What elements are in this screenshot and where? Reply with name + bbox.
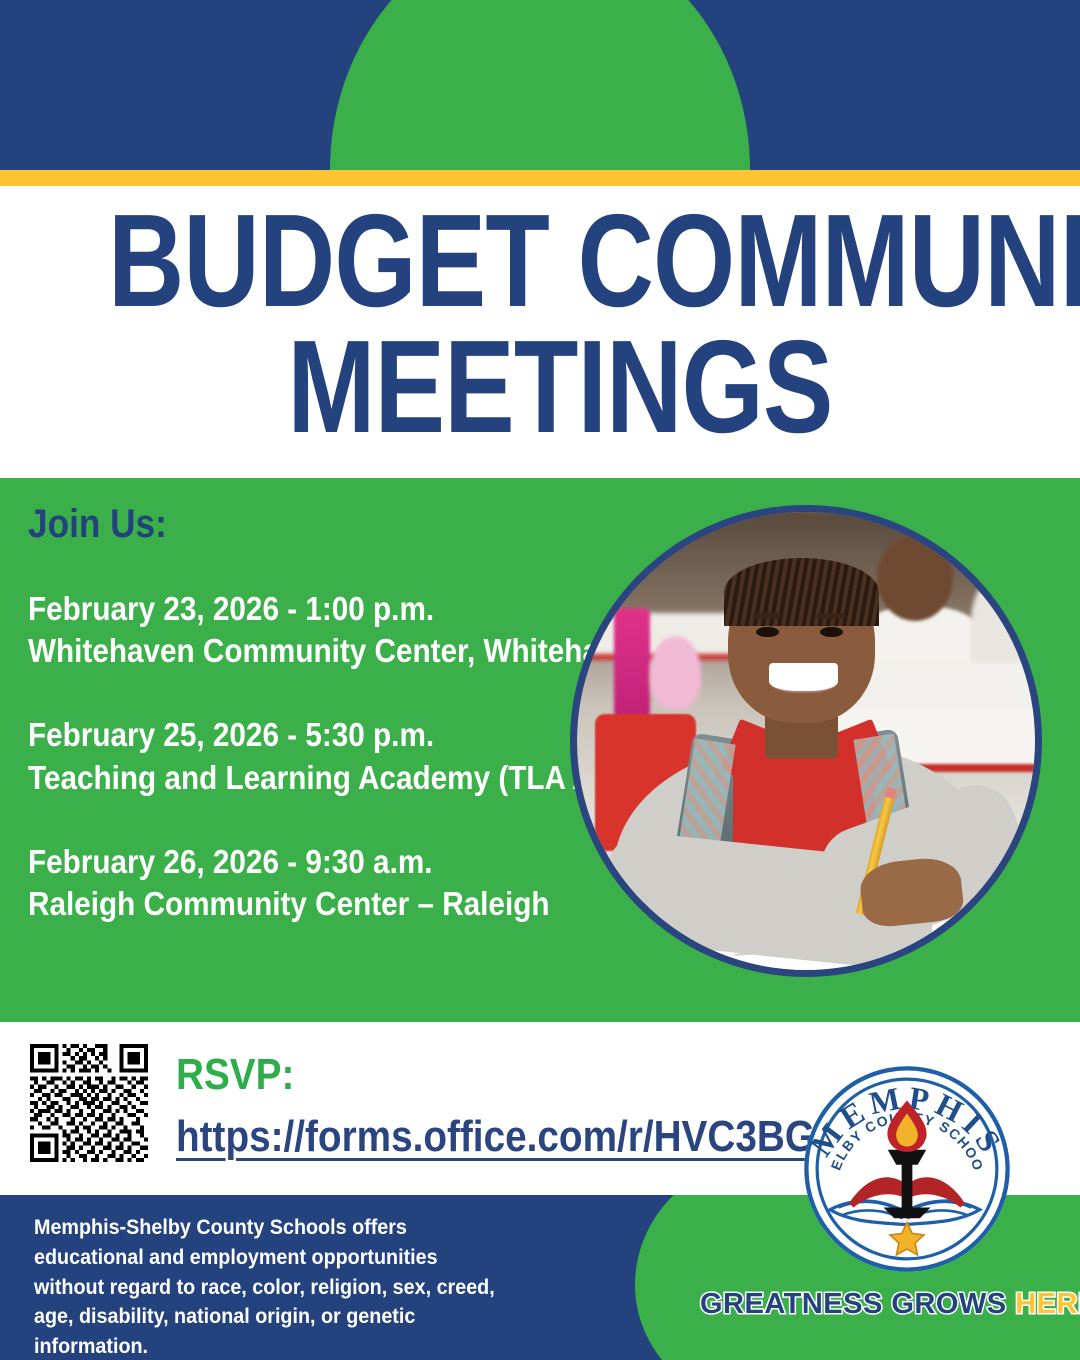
photo-peer-head [877, 535, 954, 621]
meeting-item: February 26, 2026 - 9:30 a.m. Raleigh Co… [28, 841, 668, 925]
meeting-location: Whitehaven Community Center, Whitehaven [28, 630, 604, 672]
page-title-line-2: MEETINGS [108, 326, 972, 447]
student-photo [570, 505, 1042, 977]
photo-eye-right [820, 627, 843, 638]
join-us-label: Join Us: [28, 502, 167, 547]
meeting-datetime: February 26, 2026 - 9:30 a.m. [28, 841, 604, 883]
header-dome-shape [330, 0, 750, 170]
qr-code-icon [30, 1044, 148, 1162]
photo-pink-object [650, 636, 700, 709]
photo-eyebrow-left [753, 613, 780, 619]
page-title-line-1: BUDGET COMMUNITY [108, 200, 972, 321]
photo-eyebrow-right [817, 613, 844, 619]
tagline: GREATNESS GROWS HERE! [700, 1288, 1080, 1321]
photo-pink-bottle [614, 608, 651, 718]
meeting-item: February 23, 2026 - 1:00 p.m. Whitehaven… [28, 588, 668, 672]
header-yellow-stripe [0, 170, 1080, 186]
meeting-location: Teaching and Learning Academy (TLA Audit… [28, 757, 604, 799]
poster-root: BUDGET COMMUNITY MEETINGS Join Us: Febru… [0, 0, 1080, 1360]
tagline-part-1: GREATNESS GROWS [700, 1288, 1007, 1320]
rsvp-url-link[interactable]: https://forms.office.com/r/HVC3BGdRxr [176, 1112, 903, 1162]
photo-student-smile [769, 663, 838, 692]
meeting-datetime: February 23, 2026 - 1:00 p.m. [28, 588, 604, 630]
mscs-logo: MEMPHIS SHELBY COUNTY SCHOOLS [800, 1062, 1014, 1276]
qr-code[interactable] [30, 1044, 148, 1162]
photo-student-hair [724, 558, 880, 627]
nondiscrimination-disclaimer: Memphis-Shelby County Schools offers edu… [34, 1213, 504, 1360]
meeting-datetime: February 25, 2026 - 5:30 p.m. [28, 714, 604, 756]
header-band [0, 0, 1080, 170]
meeting-location: Raleigh Community Center – Raleigh [28, 883, 604, 925]
mscs-logo-icon: MEMPHIS SHELBY COUNTY SCHOOLS [800, 1062, 1014, 1276]
tagline-part-2: HERE! [1015, 1288, 1080, 1320]
photo-eye-left [756, 627, 779, 638]
title-zone: BUDGET COMMUNITY MEETINGS [0, 186, 1080, 478]
rsvp-label: RSVP: [176, 1050, 294, 1100]
student-photo-inner [577, 512, 1035, 970]
